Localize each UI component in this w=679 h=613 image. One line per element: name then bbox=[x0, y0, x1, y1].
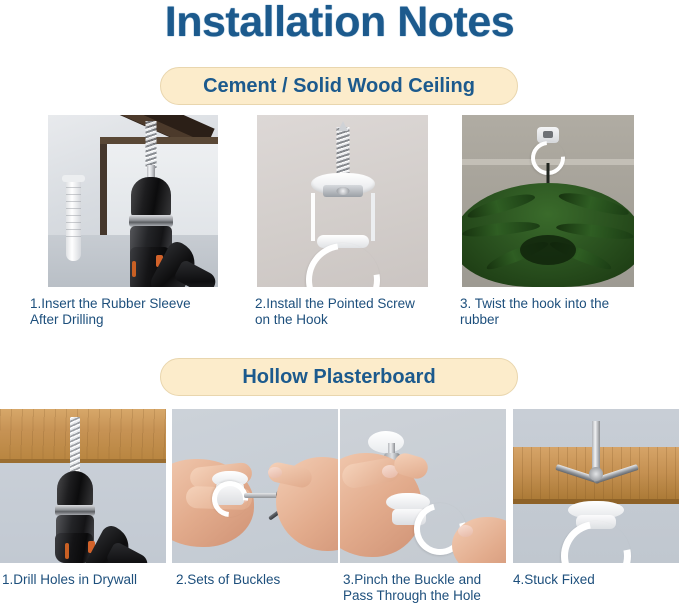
plant-pot-shadow bbox=[520, 235, 576, 265]
pointed-screw-tip bbox=[338, 121, 348, 131]
drill-chuck bbox=[131, 177, 171, 219]
step-caption-plaster-1: 1.Drill Holes in Drywall bbox=[2, 572, 162, 588]
drill-chuck bbox=[57, 471, 93, 509]
step-image-cement-3 bbox=[462, 115, 634, 287]
step-caption-plaster-2: 2.Sets of Buckles bbox=[176, 572, 336, 588]
step-caption-plaster-3: 3.Pinch the Buckle and Pass Through the … bbox=[343, 572, 503, 604]
right-hand-nail bbox=[458, 525, 473, 537]
cordless-drill bbox=[0, 409, 166, 563]
step-image-plaster-1 bbox=[0, 409, 166, 563]
section-badge-plasterboard: Hollow Plasterboard bbox=[160, 358, 518, 396]
section-badge-cement: Cement / Solid Wood Ceiling bbox=[160, 67, 518, 105]
anchor-disc bbox=[368, 431, 404, 453]
step-caption-cement-3: 3. Twist the hook into the rubber bbox=[460, 296, 645, 328]
right-hand-nail bbox=[268, 467, 282, 478]
toggle-shank bbox=[592, 421, 600, 469]
step-image-plaster-4 bbox=[513, 409, 679, 563]
pointed-screw-thread bbox=[336, 127, 349, 175]
section-badge-cement-label: Cement / Solid Wood Ceiling bbox=[203, 75, 475, 98]
step-image-cement-1 bbox=[48, 115, 218, 287]
drill-indicator-stripe bbox=[65, 543, 69, 559]
step-caption-plaster-4: 4.Stuck Fixed bbox=[513, 572, 673, 588]
step-caption-cement-2: 2.Install the Pointed Screw on the Hook bbox=[255, 296, 430, 328]
page-title: Installation Notes bbox=[0, 0, 679, 47]
section-badge-plasterboard-label: Hollow Plasterboard bbox=[242, 366, 435, 389]
hook-cage bbox=[311, 193, 375, 241]
drill-indicator-stripe bbox=[132, 261, 136, 277]
cordless-drill bbox=[48, 115, 218, 287]
step-image-plaster-2 bbox=[172, 409, 338, 563]
step-caption-cement-1: 1.Insert the Rubber Sleeve After Drillin… bbox=[30, 296, 215, 328]
step-image-plaster-3 bbox=[340, 409, 506, 563]
toggle-hub bbox=[589, 467, 603, 481]
step-image-cement-2 bbox=[257, 115, 428, 287]
ceiling-hook-hole bbox=[543, 131, 553, 138]
